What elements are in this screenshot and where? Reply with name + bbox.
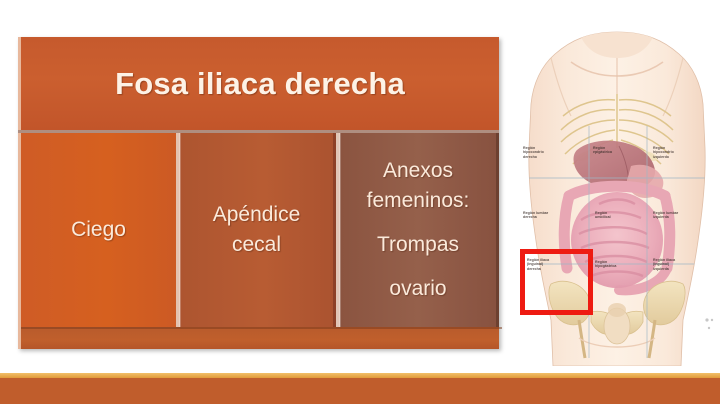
region-label-hipocondrio-derecho: Región hipocondrio derecho <box>523 146 544 159</box>
cell-apendice-line-1: Apéndice <box>213 200 301 230</box>
table-footer-strip <box>18 327 499 349</box>
cell-anexos-line-3: Trompas <box>377 230 459 260</box>
cell-ciego-line-1: Ciego <box>71 215 126 245</box>
table-cell-anexos-femeninos: Anexos femeninos: Trompas ovario <box>336 133 499 327</box>
cell-divider <box>179 133 181 327</box>
bottom-banner <box>0 373 720 404</box>
cell-divider <box>339 133 341 327</box>
table-cell-ciego: Ciego <box>18 133 176 327</box>
region-label-lumbar-izquierda: Región lumbar izquierda <box>653 211 678 220</box>
cell-anexos-line-2: femeninos: <box>367 186 470 216</box>
cell-anexos-line-1: Anexos <box>383 156 453 186</box>
region-label-lumbar-derecha: Región lumbar derecha <box>523 211 548 220</box>
abdominal-regions-image: Región hipocondrio derecho Región epigás… <box>519 28 715 366</box>
footer-divider <box>21 327 502 329</box>
fosa-iliaca-table: Fosa iliaca derecha Ciego Apéndice cecal… <box>18 37 499 349</box>
table-header-band: Fosa iliaca derecha <box>18 37 499 130</box>
bottom-banner-accent-line <box>0 373 720 378</box>
region-label-epigastrio: Región epigástrica <box>593 146 612 155</box>
region-label-umbilical: Región umbilical <box>595 211 611 220</box>
highlight-box-iliaca-derecha <box>520 249 593 315</box>
page-title: Fosa iliaca derecha <box>115 66 405 102</box>
region-label-hipocondrio-izquierdo: Región hipocondrio izquierdo <box>653 146 674 159</box>
cell-apendice-line-2: cecal <box>232 230 281 260</box>
table-body-row: Ciego Apéndice cecal Anexos femeninos: T… <box>18 133 499 327</box>
region-label-hipogastrica: Región hipogástrica <box>595 260 616 269</box>
anatomy-illustration <box>519 28 715 366</box>
slide-canvas: Fosa iliaca derecha Ciego Apéndice cecal… <box>0 0 720 404</box>
region-label-iliaca-izquierda: Región iliaca (inguinal) izquierda <box>653 258 675 271</box>
cell-anexos-line-4: ovario <box>389 274 446 304</box>
table-cell-apendice-cecal: Apéndice cecal <box>176 133 336 327</box>
